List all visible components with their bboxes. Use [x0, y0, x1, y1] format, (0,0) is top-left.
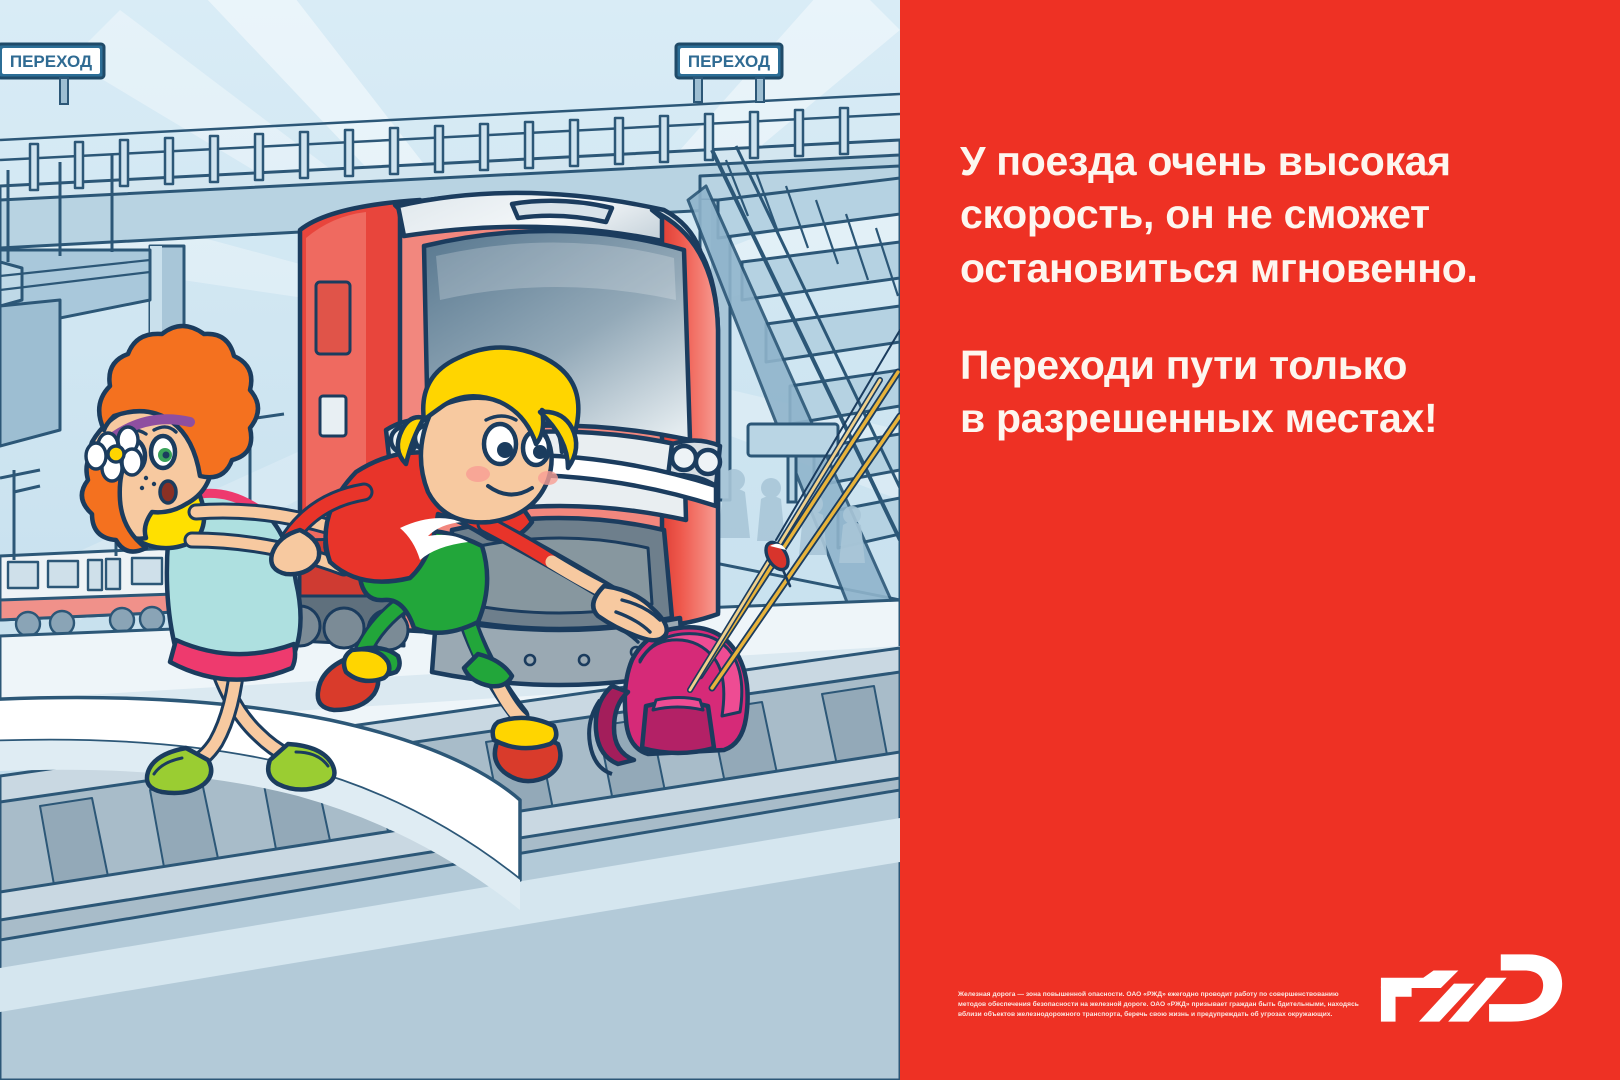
- headline-paragraph2: Переходи пути только в разрешенных места…: [960, 339, 1560, 446]
- headline-p2-line1: Переходи пути только: [960, 339, 1560, 392]
- legal-fineprint: Железная дорога — зона повышенной опасно…: [958, 990, 1378, 1021]
- crossing-sign-right-label: ПЕРЕХОД: [688, 52, 770, 71]
- rzd-logo: [1378, 951, 1568, 1025]
- red-message-panel: У поезда очень высокая скорость, он не с…: [900, 0, 1620, 1080]
- fineprint-line-2: методов обеспечения безопасности на желе…: [958, 1000, 1378, 1010]
- crossing-sign-left-label: ПЕРЕХОД: [10, 52, 92, 71]
- headline-block: У поезда очень высокая скорость, он не с…: [960, 135, 1560, 445]
- headline-p1-line1: У поезда очень высокая: [960, 135, 1560, 188]
- illustration-panel: ПЕРЕХОД ПЕРЕХОД: [0, 0, 900, 1080]
- headline-p2-line2: в разрешенных местах!: [960, 392, 1560, 445]
- headline-p1-line2: скорость, он не сможет: [960, 188, 1560, 241]
- boy-shoe-front: [493, 718, 561, 781]
- headline-p1-line3: остановиться мгновенно.: [960, 242, 1560, 295]
- fineprint-line-3: вблизи объектов железнодорожного транспо…: [958, 1010, 1378, 1020]
- safety-poster: ПЕРЕХОД ПЕРЕХОД: [0, 0, 1620, 1080]
- fineprint-line-1: Железная дорога — зона повышенной опасно…: [958, 990, 1378, 1000]
